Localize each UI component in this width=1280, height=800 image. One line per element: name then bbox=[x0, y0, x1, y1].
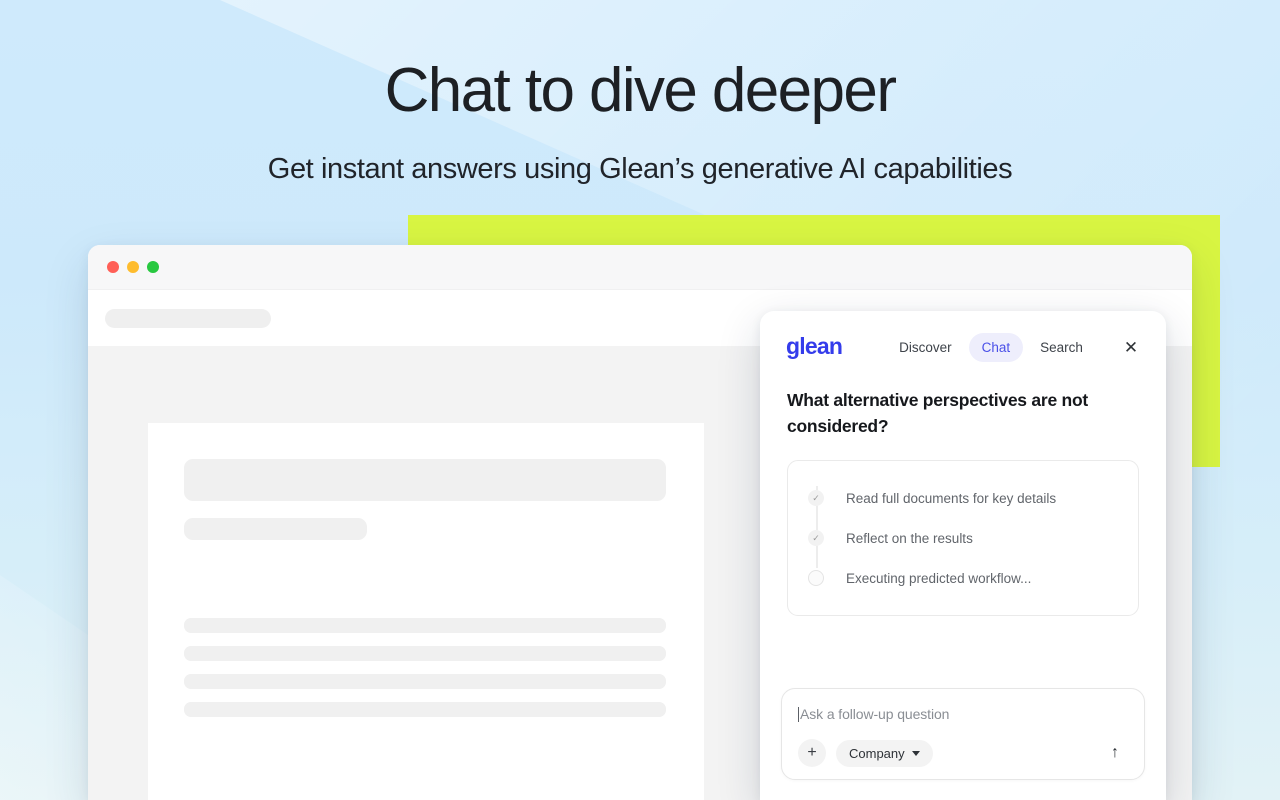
scope-selector-label: Company bbox=[849, 746, 905, 761]
glean-logo[interactable]: glean bbox=[786, 335, 842, 358]
text-caret bbox=[798, 707, 799, 722]
chat-question-text: What alternative perspectives are not co… bbox=[760, 363, 1166, 439]
skeleton-subheading-bar bbox=[184, 518, 367, 540]
chat-composer[interactable]: Ask a follow-up question + Company ↑ bbox=[781, 688, 1145, 780]
workflow-step-label: Read full documents for key details bbox=[846, 491, 1056, 506]
skeleton-text-line bbox=[184, 702, 666, 717]
skeleton-text-line bbox=[184, 646, 666, 661]
check-icon bbox=[808, 490, 824, 506]
chat-message-area bbox=[760, 616, 1166, 688]
chat-panel-header: glean Discover Chat Search ✕ bbox=[760, 311, 1166, 363]
skeleton-text-line bbox=[184, 618, 666, 633]
tab-chat[interactable]: Chat bbox=[969, 333, 1024, 362]
browser-titlebar bbox=[88, 245, 1192, 290]
tab-search[interactable]: Search bbox=[1027, 333, 1096, 362]
composer-bottom-spacer bbox=[760, 780, 1166, 800]
content-card bbox=[148, 423, 704, 800]
scope-selector[interactable]: Company bbox=[836, 740, 933, 767]
window-minimize-icon[interactable] bbox=[127, 261, 139, 273]
send-arrow-icon[interactable]: ↑ bbox=[1102, 740, 1128, 766]
pending-circle-icon bbox=[808, 570, 824, 586]
page-title: Chat to dive deeper bbox=[0, 58, 1280, 125]
skeleton-heading-bar bbox=[184, 459, 666, 501]
check-icon bbox=[808, 530, 824, 546]
skeleton-text-line bbox=[184, 674, 666, 689]
close-icon[interactable]: ✕ bbox=[1118, 334, 1144, 360]
page-subtitle: Get instant answers using Glean’s genera… bbox=[0, 151, 1280, 187]
add-attachment-icon[interactable]: + bbox=[798, 739, 826, 767]
followup-input-placeholder: Ask a follow-up question bbox=[800, 706, 949, 722]
chevron-down-icon bbox=[912, 751, 920, 756]
tab-discover[interactable]: Discover bbox=[886, 333, 965, 362]
window-maximize-icon[interactable] bbox=[147, 261, 159, 273]
workflow-step-label: Reflect on the results bbox=[846, 531, 973, 546]
chat-nav: Discover Chat Search bbox=[886, 333, 1096, 362]
workflow-step: Reflect on the results bbox=[788, 518, 1138, 558]
composer-controls: + Company ↑ bbox=[798, 739, 1128, 767]
glean-chat-panel: glean Discover Chat Search ✕ What altern… bbox=[760, 311, 1166, 800]
hero-section: Chat to dive deeper Get instant answers … bbox=[0, 0, 1280, 187]
followup-input[interactable]: Ask a follow-up question bbox=[798, 703, 1128, 725]
window-close-icon[interactable] bbox=[107, 261, 119, 273]
url-input[interactable] bbox=[105, 309, 271, 328]
workflow-step: Executing predicted workflow... bbox=[788, 558, 1138, 598]
workflow-step-label: Executing predicted workflow... bbox=[846, 571, 1031, 586]
workflow-status-card: Read full documents for key details Refl… bbox=[787, 460, 1139, 616]
workflow-step: Read full documents for key details bbox=[788, 478, 1138, 518]
